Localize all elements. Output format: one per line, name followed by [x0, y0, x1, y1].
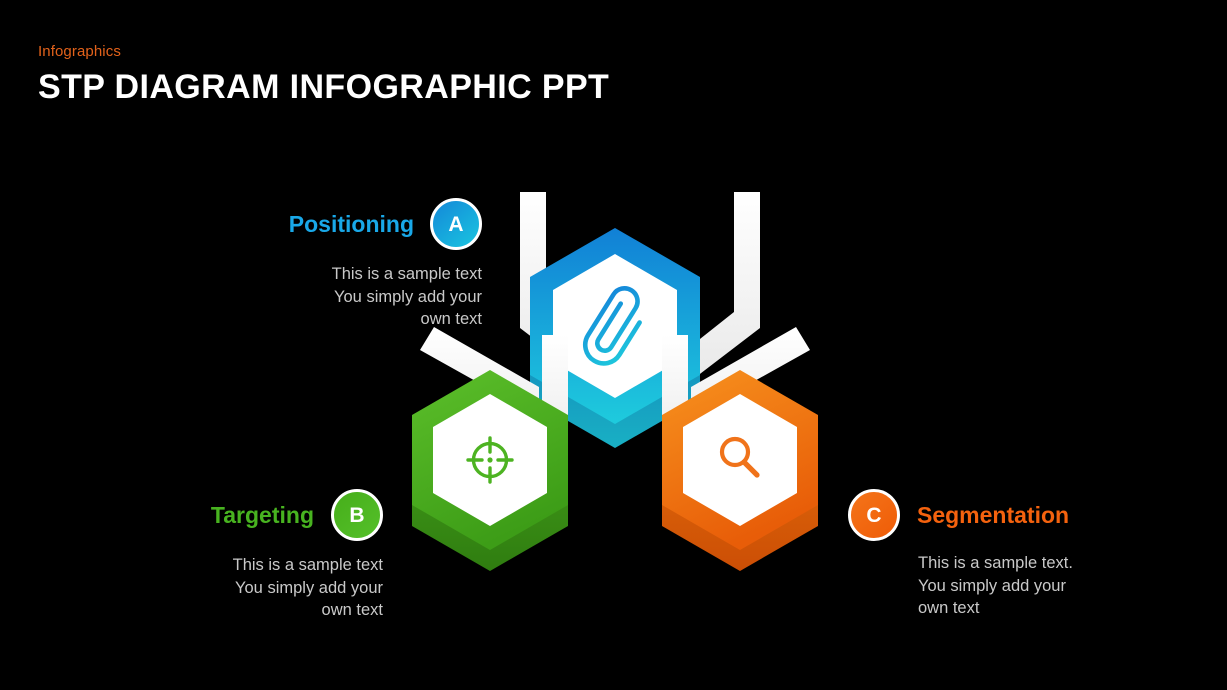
- targeting-description: This is a sample text You simply add you…: [100, 554, 383, 622]
- segmentation-badge[interactable]: C: [848, 489, 900, 541]
- segmentation-title: Segmentation: [917, 504, 1069, 527]
- positioning-badge[interactable]: A: [430, 198, 482, 250]
- segmentation-text-block: C Segmentation This is a sample text. Yo…: [848, 489, 1148, 620]
- positioning-description: This is a sample text You simply add you…: [200, 263, 482, 331]
- segmentation-heading-row: C Segmentation: [848, 489, 1148, 541]
- targeting-heading-row: Targeting B: [100, 489, 383, 541]
- page-header: Infographics STP DIAGRAM INFOGRAPHIC PPT: [38, 44, 838, 106]
- targeting-badge[interactable]: B: [331, 489, 383, 541]
- center-connectors: [588, 500, 642, 540]
- segmentation-description: This is a sample text. You simply add yo…: [918, 552, 1148, 620]
- positioning-title: Positioning: [289, 213, 414, 236]
- eyebrow-label: Infographics: [38, 44, 838, 59]
- positioning-text-block: Positioning A This is a sample text You …: [200, 198, 482, 331]
- targeting-text-block: Targeting B This is a sample text You si…: [100, 489, 383, 622]
- targeting-title: Targeting: [211, 504, 314, 527]
- page-title: STP DIAGRAM INFOGRAPHIC PPT: [38, 70, 838, 106]
- positioning-heading-row: Positioning A: [200, 198, 482, 250]
